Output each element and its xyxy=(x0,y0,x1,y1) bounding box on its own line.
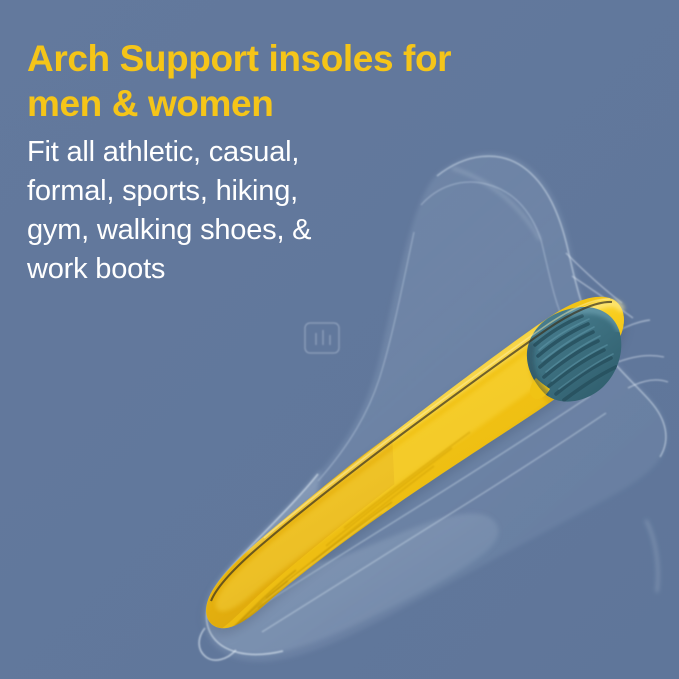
product-ad-canvas: Arch Support insoles for men & women Fit… xyxy=(0,0,679,679)
subtitle-text: Fit all athletic, casual, formal, sports… xyxy=(27,133,417,289)
copy-layer: Arch Support insoles for men & women Fit… xyxy=(0,0,679,679)
page-title: Arch Support insoles for men & women xyxy=(27,36,567,126)
